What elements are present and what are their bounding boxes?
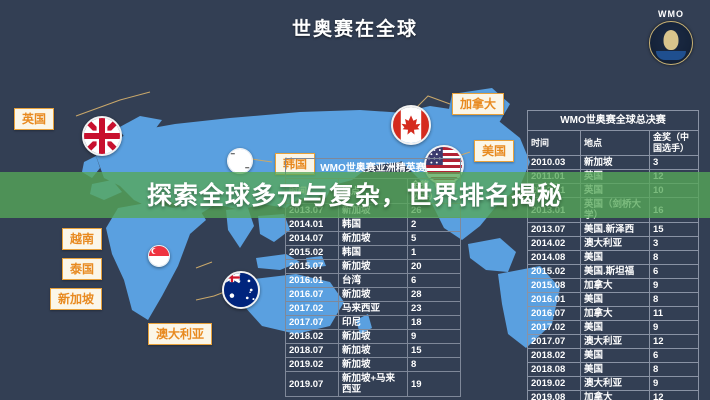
table-cell-time: 2017.07	[286, 316, 339, 330]
table-cell-place: 澳大利亚	[581, 335, 650, 349]
table-cell-gold: 5	[408, 232, 461, 246]
table-cell-gold: 8	[650, 293, 699, 307]
table-cell-place: 加拿大	[581, 279, 650, 293]
table-cell-time: 2019.08	[528, 391, 581, 400]
table-cell-time: 2016.07	[528, 307, 581, 321]
table-cell-place: 美国	[581, 293, 650, 307]
table-row: 2018.07新加坡15	[286, 344, 461, 358]
global-col-gold: 金奖（中国选手）	[650, 131, 699, 156]
table-cell-place: 美国	[581, 251, 650, 265]
singapore-flag-icon	[148, 245, 170, 267]
table-cell-place: 澳大利亚	[581, 237, 650, 251]
table-row: 2018.02美国6	[528, 349, 699, 363]
table-cell-time: 2018.08	[528, 363, 581, 377]
table-cell-place: 美国.斯坦福	[581, 265, 650, 279]
table-cell-gold: 8	[650, 251, 699, 265]
table-cell-place: 韩国	[339, 218, 408, 232]
table-cell-gold: 6	[408, 274, 461, 288]
table-row: 2016.07新加坡28	[286, 288, 461, 302]
map-label-singapore[interactable]: 新加坡	[50, 288, 102, 310]
table-cell-time: 2015.08	[528, 279, 581, 293]
table-row: 2014.01韩国2	[286, 218, 461, 232]
table-cell-place: 新加坡	[339, 330, 408, 344]
table-cell-time: 2017.02	[286, 302, 339, 316]
table-cell-time: 2016.01	[528, 293, 581, 307]
uk-flag-icon	[82, 116, 122, 156]
table-cell-place: 澳大利亚	[581, 377, 650, 391]
table-row: 2015.02韩国1	[286, 246, 461, 260]
map-label-canada[interactable]: 加拿大	[452, 93, 504, 115]
table-cell-time: 2018.02	[528, 349, 581, 363]
table-cell-gold: 15	[650, 223, 699, 237]
table-cell-gold: 15	[408, 344, 461, 358]
table-row: 2014.02澳大利亚3	[528, 237, 699, 251]
table-row: 2019.02新加坡8	[286, 358, 461, 372]
global-col-place: 地点	[581, 131, 650, 156]
table-cell-time: 2015.02	[286, 246, 339, 260]
overlay-banner-text: 探索全球多元与复杂，世界排名揭秘	[0, 176, 710, 212]
table-cell-time: 2019.02	[528, 377, 581, 391]
global-col-time: 时间	[528, 131, 581, 156]
table-cell-gold: 6	[650, 349, 699, 363]
australia-flag-icon	[222, 271, 260, 309]
table-row: 2017.07印尼18	[286, 316, 461, 330]
korea-flag-icon	[227, 148, 253, 174]
table-cell-place: 加拿大	[581, 307, 650, 321]
table-cell-time: 2019.02	[286, 358, 339, 372]
asia-table-body: 2013.07新加坡262014.01韩国22014.07新加坡52015.02…	[286, 204, 461, 397]
wmo-emblem-icon	[649, 21, 693, 65]
table-cell-gold: 11	[650, 307, 699, 321]
table-cell-time: 2018.07	[286, 344, 339, 358]
table-cell-time: 2014.02	[528, 237, 581, 251]
table-cell-time: 2016.07	[286, 288, 339, 302]
table-cell-place: 新加坡	[339, 260, 408, 274]
table-cell-gold: 8	[650, 363, 699, 377]
table-cell-time: 2010.03	[528, 156, 581, 170]
table-cell-time: 2013.07	[528, 223, 581, 237]
table-cell-place: 新加坡+马来西亚	[339, 372, 408, 397]
wmo-logo: WMO	[644, 8, 698, 70]
table-cell-gold: 20	[408, 260, 461, 274]
table-row: 2015.08加拿大9	[528, 279, 699, 293]
table-cell-gold: 3	[650, 156, 699, 170]
table-cell-time: 2014.08	[528, 251, 581, 265]
table-cell-time: 2017.07	[528, 335, 581, 349]
table-cell-gold: 8	[408, 358, 461, 372]
table-cell-gold: 1	[408, 246, 461, 260]
table-cell-place: 美国.新泽西	[581, 223, 650, 237]
map-label-australia[interactable]: 澳大利亚	[148, 323, 212, 345]
page-title: 世奥赛在全球	[0, 14, 710, 41]
table-cell-gold: 3	[650, 237, 699, 251]
table-row: 2016.01台湾6	[286, 274, 461, 288]
table-row: 2017.07澳大利亚12	[528, 335, 699, 349]
table-cell-gold: 28	[408, 288, 461, 302]
table-cell-place: 美国	[581, 349, 650, 363]
table-row: 2017.02马来西亚23	[286, 302, 461, 316]
table-cell-place: 台湾	[339, 274, 408, 288]
table-cell-place: 新加坡	[339, 232, 408, 246]
table-cell-time: 2014.01	[286, 218, 339, 232]
wmo-logo-text: WMO	[644, 8, 698, 20]
table-cell-gold: 12	[650, 391, 699, 400]
table-cell-time: 2015.02	[528, 265, 581, 279]
table-cell-place: 新加坡	[339, 344, 408, 358]
canada-flag-icon	[391, 105, 431, 145]
map-label-uk[interactable]: 英国	[14, 108, 54, 130]
table-cell-place: 韩国	[339, 246, 408, 260]
map-label-thailand[interactable]: 泰国	[62, 258, 102, 280]
table-cell-place: 加拿大	[581, 391, 650, 400]
map-label-usa[interactable]: 美国	[474, 140, 514, 162]
table-row: 2019.07新加坡+马来西亚19	[286, 372, 461, 397]
table-row: 2016.07加拿大11	[528, 307, 699, 321]
table-row: 2019.02澳大利亚9	[528, 377, 699, 391]
map-label-vietnam[interactable]: 越南	[62, 228, 102, 250]
poster-root: 世奥赛在全球 WMO	[0, 0, 710, 400]
table-cell-place: 新加坡	[339, 288, 408, 302]
table-cell-place: 新加坡	[581, 156, 650, 170]
table-cell-gold: 6	[650, 265, 699, 279]
table-row: 2017.02美国9	[528, 321, 699, 335]
table-row: 2013.07美国.新泽西15	[528, 223, 699, 237]
table-row: 2014.08美国8	[528, 251, 699, 265]
table-row: 2010.03新加坡3	[528, 156, 699, 170]
table-row: 2018.02新加坡9	[286, 330, 461, 344]
table-row: 2015.02美国.斯坦福6	[528, 265, 699, 279]
table-cell-place: 印尼	[339, 316, 408, 330]
table-cell-time: 2015.07	[286, 260, 339, 274]
table-cell-gold: 9	[408, 330, 461, 344]
table-row: 2018.08美国8	[528, 363, 699, 377]
table-cell-gold: 9	[650, 377, 699, 391]
table-row: 2015.07新加坡20	[286, 260, 461, 274]
table-row: 2019.08加拿大12	[528, 391, 699, 400]
table-cell-time: 2016.01	[286, 274, 339, 288]
global-final-table: WMO世奥赛全球总决赛 时间 地点 金奖（中国选手） 2010.03新加坡320…	[527, 110, 699, 400]
table-cell-time: 2017.02	[528, 321, 581, 335]
table-cell-gold: 9	[650, 279, 699, 293]
table-cell-gold: 12	[650, 335, 699, 349]
table-cell-time: 2018.02	[286, 330, 339, 344]
table-cell-gold: 19	[408, 372, 461, 397]
table-cell-place: 美国	[581, 363, 650, 377]
table-row: 2016.01美国8	[528, 293, 699, 307]
table-cell-place: 马来西亚	[339, 302, 408, 316]
table-row: 2014.07新加坡5	[286, 232, 461, 246]
table-cell-gold: 2	[408, 218, 461, 232]
table-cell-place: 新加坡	[339, 358, 408, 372]
table-cell-gold: 9	[650, 321, 699, 335]
table-cell-place: 美国	[581, 321, 650, 335]
table-cell-gold: 23	[408, 302, 461, 316]
table-cell-time: 2019.07	[286, 372, 339, 397]
table-cell-gold: 18	[408, 316, 461, 330]
table-cell-time: 2014.07	[286, 232, 339, 246]
global-table-caption: WMO世奥赛全球总决赛	[528, 111, 699, 131]
